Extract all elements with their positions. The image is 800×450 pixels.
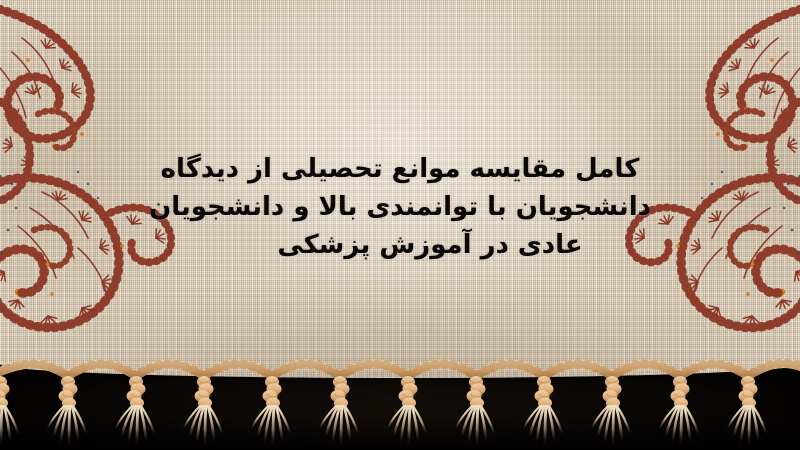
linen-cloth: [0, 0, 800, 378]
linen-weave-texture: [0, 0, 800, 378]
title-card-canvas: کامل مقایسه موانع تحصیلی از دیدگاه دانشج…: [0, 0, 800, 450]
